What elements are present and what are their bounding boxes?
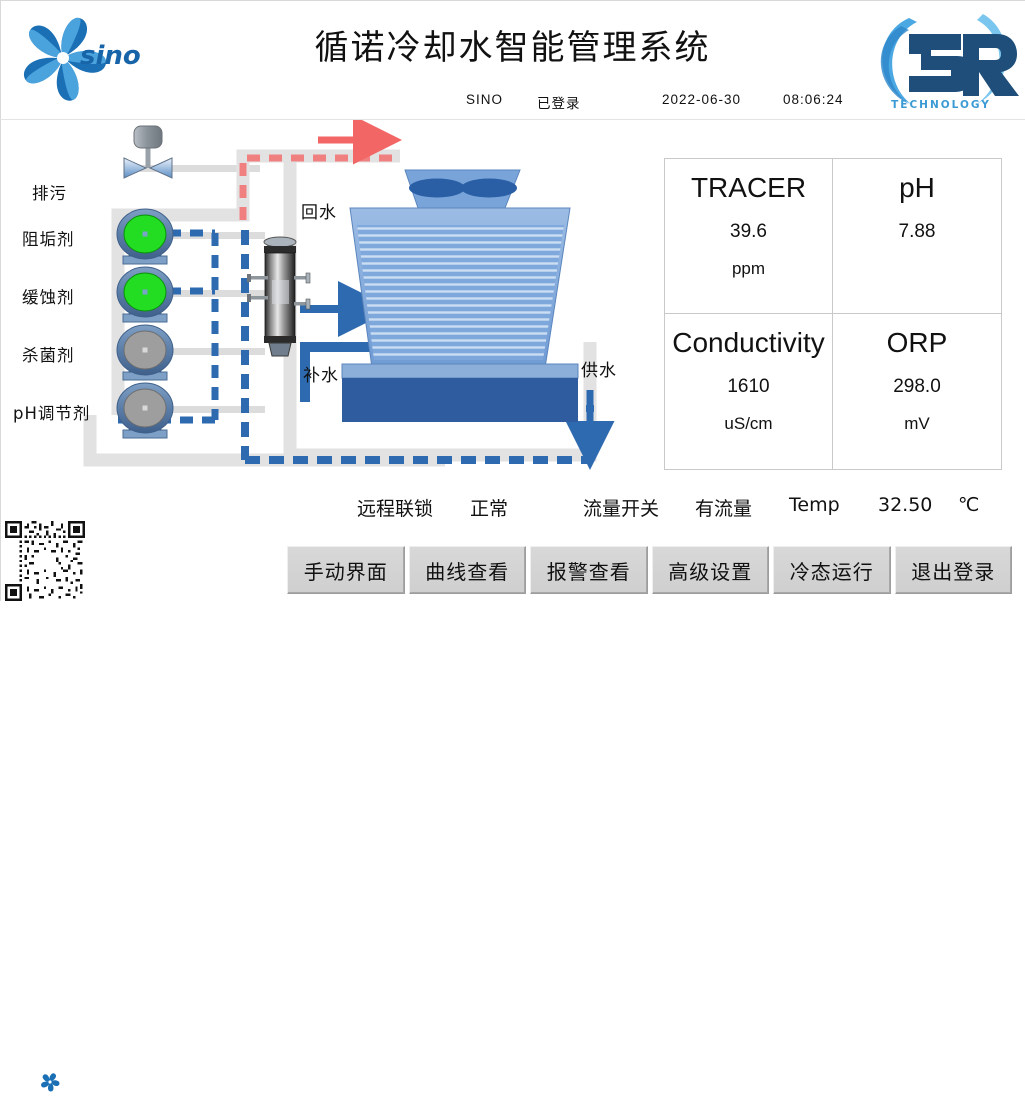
dosing-pump-4	[117, 383, 173, 438]
qr-code	[5, 521, 85, 601]
equipment-label-scale-inhibitor: 阻垢剂	[22, 226, 75, 250]
measurement-card-ph[interactable]: pH 7.88	[833, 159, 1001, 314]
measurement-name: TRACER	[691, 171, 806, 205]
logout-button[interactable]: 退出登录	[895, 546, 1013, 594]
measurement-name: pH	[899, 171, 935, 205]
measurement-card-conductivity[interactable]: Conductivity 1610 uS/cm	[665, 314, 833, 469]
status-row: 远程联锁 正常 流量开关 有流量 Temp 32.50 ℃	[0, 494, 1025, 526]
flow-switch-value: 有流量	[695, 494, 752, 521]
system-date: 2022-06-30	[662, 92, 741, 107]
remote-interlock-value: 正常	[470, 494, 508, 521]
measurement-unit: mV	[904, 414, 930, 434]
temperature-unit: ℃	[958, 494, 979, 516]
remote-interlock-label: 远程联锁	[357, 494, 433, 521]
alarm-view-button[interactable]: 报警查看	[530, 546, 648, 594]
hmi-screen: sino 循诺冷却水智能管理系统 SINO 已登录 2022-06-30 08:…	[0, 0, 1025, 601]
threer-logo: TECHNOLOGY	[865, 4, 1020, 116]
threer-logo-subtext: TECHNOLOGY	[891, 99, 991, 111]
equipment-label-corrosion-inhibitor: 缓蚀剂	[22, 284, 75, 308]
system-time: 08:06:24	[783, 92, 844, 107]
pipe-label-return-water: 回水	[301, 198, 337, 223]
measurement-value: 39.6	[730, 221, 767, 243]
qr-center-logo	[36, 1068, 64, 1096]
header: sino 循诺冷却水智能管理系统 SINO 已登录 2022-06-30 08:…	[0, 0, 1025, 120]
measurement-card-orp[interactable]: ORP 298.0 mV	[833, 314, 1001, 469]
measurement-name: ORP	[887, 326, 948, 360]
trend-curve-button[interactable]: 曲线查看	[409, 546, 527, 594]
measurement-name: Conductivity	[672, 326, 825, 360]
logged-user: SINO	[466, 92, 503, 107]
manual-interface-button[interactable]: 手动界面	[287, 546, 405, 594]
cold-start-run-button[interactable]: 冷态运行	[773, 546, 891, 594]
equipment-label-biocide: 杀菌剂	[22, 342, 75, 366]
cooling-tower	[342, 170, 578, 422]
equipment-label-ph-adjuster: pH调节剂	[13, 400, 90, 424]
measurement-unit: ppm	[732, 259, 765, 279]
measurement-unit: uS/cm	[724, 414, 772, 434]
process-diagram: 排污 阻垢剂 缓蚀剂 杀菌剂 pH调节剂 回水 补水 供水	[0, 120, 660, 480]
measurement-panel: TRACER 39.6 ppm pH 7.88 Conductivity 161…	[664, 158, 1002, 470]
flow-switch-label: 流量开关	[583, 494, 659, 521]
measurement-value: 7.88	[899, 221, 936, 243]
login-state: 已登录	[537, 92, 581, 112]
temperature-label: Temp	[789, 494, 840, 516]
measurement-card-tracer[interactable]: TRACER 39.6 ppm	[665, 159, 833, 314]
advanced-settings-button[interactable]: 高级设置	[652, 546, 770, 594]
dosing-pump-2	[117, 267, 173, 322]
dosing-pump-1	[117, 209, 173, 264]
bottom-button-bar: 手动界面 曲线查看 报警查看 高级设置 冷态运行 退出登录	[287, 546, 1012, 594]
measurement-value: 298.0	[893, 376, 941, 398]
measurement-value: 1610	[727, 376, 769, 398]
pipe-label-supply-water: 供水	[581, 356, 617, 381]
equipment-label-blowdown: 排污	[32, 180, 67, 204]
pipe-label-makeup-water: 补水	[303, 361, 339, 386]
temperature-value: 32.50	[878, 494, 932, 516]
sensor-vessel	[247, 237, 310, 356]
dosing-pump-3	[117, 325, 173, 380]
